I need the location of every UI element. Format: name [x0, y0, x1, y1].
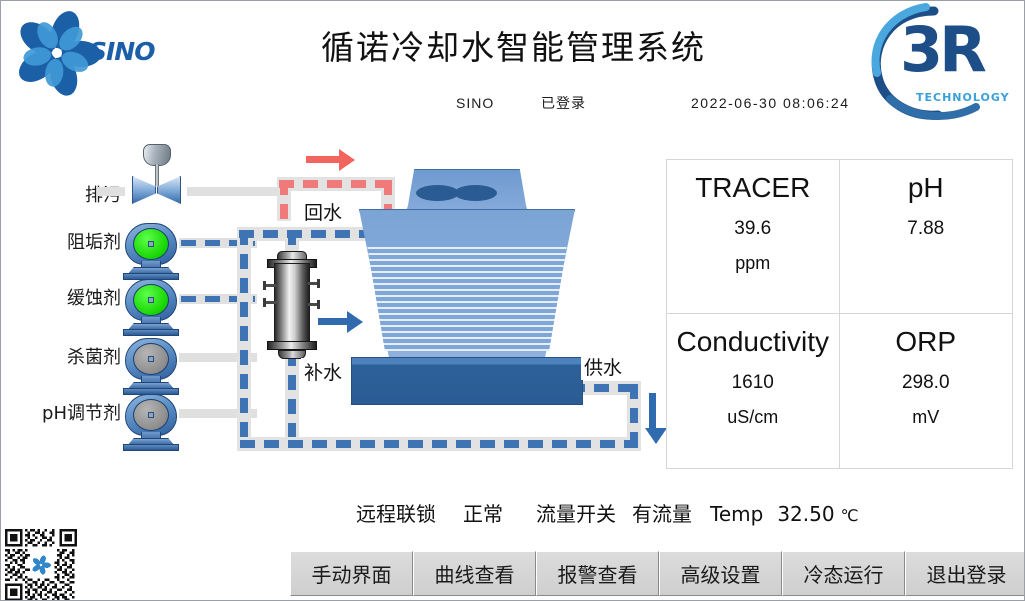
3r-tagline: TECHNOLOGY [916, 91, 1010, 104]
login-status: 已登录 [541, 93, 691, 113]
measurement-name: ORP [895, 324, 956, 359]
measurement-conductivity[interactable]: Conductivity 1610 uS/cm [667, 314, 840, 468]
label-return-water: 回水 [301, 198, 345, 225]
measurement-value: 1610 [732, 372, 774, 394]
measurement-unit: uS/cm [727, 407, 778, 428]
blowdown-pipe-left [97, 187, 125, 196]
label-ph-adjuster: pH调节剂 [1, 399, 121, 425]
valve-body-right-icon [157, 176, 181, 204]
tower-fan-blade-icon [416, 185, 459, 201]
label-biocide: 杀菌剂 [9, 343, 121, 369]
remote-interlock-value: 正常 [463, 498, 503, 527]
supply-arrow-head-icon [645, 428, 667, 444]
measurement-unit: ppm [735, 253, 770, 274]
remote-interlock-label: 远程联锁 [356, 498, 436, 527]
supply-arrow-shaft [649, 393, 656, 429]
tower-fan-blade-icon [454, 185, 497, 201]
valve-body-left-icon [132, 176, 156, 204]
label-supply-water: 供水 [581, 353, 625, 380]
blowdown-valve[interactable] [121, 144, 191, 206]
vessel-outlet-flow [288, 351, 296, 437]
valve-stem-icon [155, 164, 159, 186]
hmi-screen: SINO 3R TECHNOLOGY 循诺冷却水智能管理系统 SINO 已登录 … [0, 0, 1025, 601]
vessel-bottom-flange-icon [267, 341, 317, 350]
cooling-tower[interactable] [341, 169, 601, 419]
measurement-value: 7.88 [907, 218, 944, 240]
pump-biocide[interactable] [119, 338, 183, 394]
button-alarm-view[interactable]: 报警查看 [536, 551, 659, 596]
pump-center-dot-icon [148, 241, 154, 247]
button-advanced-settings[interactable]: 高级设置 [659, 551, 782, 596]
measurement-tracer[interactable]: TRACER 39.6 ppm [667, 160, 840, 314]
flow-switch-value: 有流量 [632, 498, 692, 527]
vessel-nozzle-tab-icon [317, 300, 320, 309]
button-trend-view[interactable]: 曲线查看 [413, 551, 536, 596]
label-corrosion-inhibitor: 缓蚀剂 [9, 284, 121, 310]
pump-antiscalant[interactable] [119, 223, 183, 279]
return-flow-left [280, 180, 288, 220]
current-user: SINO [456, 95, 541, 111]
temperature-unit: ℃ [841, 506, 859, 525]
tower-fill-pack-icon [359, 243, 575, 351]
pump-center-dot-icon [148, 297, 154, 303]
blowdown-pipe [187, 187, 282, 196]
measurement-panel: TRACER 39.6 ppm pH 7.88 Conductivity 161… [666, 159, 1013, 469]
measurement-value: 39.6 [734, 218, 771, 240]
button-manual-interface[interactable]: 手动界面 [290, 551, 413, 596]
pump-ph-adjuster[interactable] [119, 394, 183, 450]
temperature-value: 32.50 [777, 502, 834, 526]
loop-flow-right [630, 384, 638, 448]
flow-switch-label: 流量开关 [536, 498, 616, 527]
vessel-shell-icon [274, 263, 310, 345]
pump-plate-icon [123, 329, 179, 336]
loop-flow-bottom [240, 440, 638, 448]
label-makeup-water: 补水 [301, 358, 345, 385]
return-arrow-shaft [306, 156, 340, 163]
measurement-name: TRACER [695, 170, 810, 205]
pump-center-dot-icon [148, 412, 154, 418]
button-cold-start-run[interactable]: 冷态运行 [782, 551, 905, 596]
measurement-orp[interactable]: ORP 298.0 mV [840, 314, 1013, 468]
process-status-bar: 远程联锁 正常 流量开关 有流量 Temp 32.50 ℃ [356, 498, 859, 527]
pump-center-dot-icon [148, 356, 154, 362]
measurement-name: Conductivity [676, 324, 829, 359]
button-logout[interactable]: 退出登录 [905, 551, 1025, 596]
measurement-ph[interactable]: pH 7.88 [840, 160, 1013, 314]
qr-code[interactable] [5, 529, 77, 601]
pump-plate-icon [123, 444, 179, 451]
return-arrow-head-icon [339, 149, 355, 171]
side-stream-filter[interactable] [263, 251, 321, 359]
vessel-nozzle-tab-icon [317, 279, 320, 288]
datetime: 2022-06-30 08:06:24 [691, 95, 850, 111]
temperature-label: Temp [710, 502, 763, 526]
measurement-unit: mV [912, 407, 939, 428]
header-status-bar: SINO 已登录 2022-06-30 08:06:24 [456, 93, 850, 113]
page-title: 循诺冷却水智能管理系统 [1, 21, 1025, 69]
vessel-nozzle-tab-icon [263, 298, 266, 307]
valve-actuator-icon [143, 144, 171, 166]
label-antiscalant: 阻垢剂 [9, 228, 121, 254]
navigation-button-bar: 手动界面 曲线查看 报警查看 高级设置 冷态运行 退出登录 [290, 551, 1025, 596]
vessel-nozzle-tab-icon [263, 281, 266, 290]
measurement-value: 298.0 [902, 372, 950, 394]
pump-corrosion-inhibitor[interactable] [119, 279, 183, 335]
tower-basin-icon [351, 357, 583, 405]
loop-flow-left [240, 230, 248, 448]
measurement-name: pH [908, 170, 944, 205]
